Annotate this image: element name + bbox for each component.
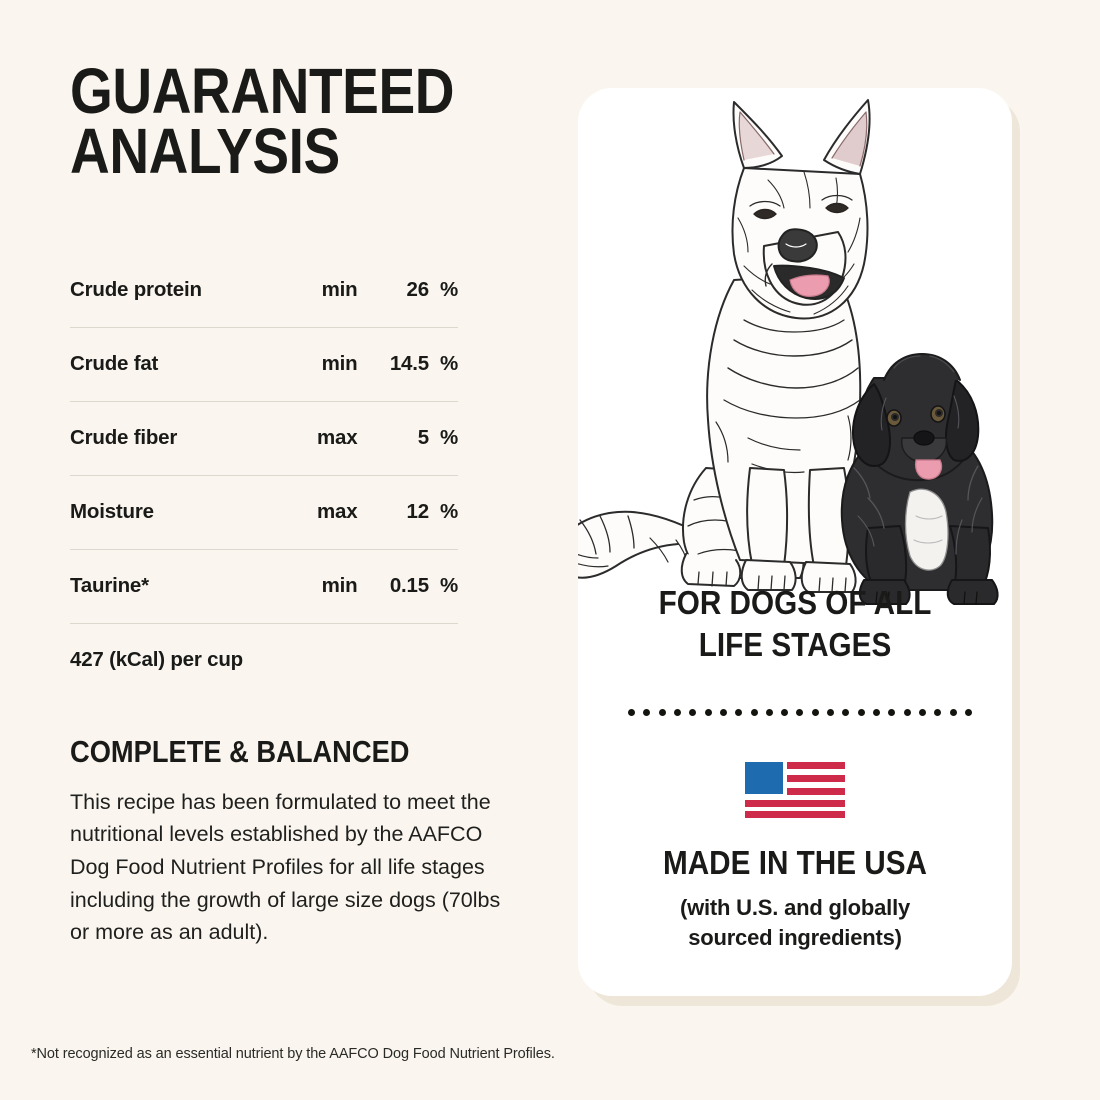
- divider-dot: [705, 709, 712, 716]
- divider-dot: [643, 709, 650, 716]
- footnote: *Not recognized as an essential nutrient…: [31, 1046, 555, 1062]
- nutrient-value: 0.15: [357, 549, 428, 623]
- divider-dot: [827, 709, 834, 716]
- page-title: GUARANTEED ANALYSIS: [70, 62, 466, 181]
- nutrient-qualifier: max: [286, 401, 358, 475]
- complete-balanced-heading: COMPLETE & BALANCED: [70, 734, 475, 770]
- nutrient-name: Moisture: [70, 475, 286, 549]
- divider-dot: [659, 709, 666, 716]
- divider-dot: [674, 709, 681, 716]
- life-stages-heading: FOR DOGS OF ALL LIFE STAGES: [600, 582, 991, 666]
- table-row: Crude fat min 14.5 %: [70, 327, 458, 401]
- table-row: Crude fiber max 5 %: [70, 401, 458, 475]
- divider-dot: [950, 709, 957, 716]
- divider-dot: [873, 709, 880, 716]
- nutrient-unit: %: [429, 253, 458, 327]
- table-row: Moisture max 12 %: [70, 475, 458, 549]
- guaranteed-analysis-table: Crude protein min 26 % Crude fat min 14.…: [70, 253, 458, 624]
- divider-dot: [751, 709, 758, 716]
- divider-dot: [781, 709, 788, 716]
- dotted-divider: [628, 708, 972, 716]
- nutrient-unit: %: [429, 327, 458, 401]
- divider-dot: [766, 709, 773, 716]
- made-in-usa-heading: MADE IN THE USA: [600, 844, 991, 882]
- complete-balanced-body: This recipe has been formulated to meet …: [70, 786, 502, 949]
- nutrient-name: Crude protein: [70, 253, 286, 327]
- divider-dot: [735, 709, 742, 716]
- nutrient-qualifier: min: [286, 253, 358, 327]
- nutrient-unit: %: [429, 549, 458, 623]
- divider-dot: [796, 709, 803, 716]
- divider-dot: [919, 709, 926, 716]
- divider-dot: [628, 709, 635, 716]
- nutrient-name: Taurine*: [70, 549, 286, 623]
- calorie-content: 427 (kCal) per cup: [70, 648, 530, 672]
- divider-dot: [965, 709, 972, 716]
- nutrient-value: 5: [357, 401, 428, 475]
- divider-dot: [934, 709, 941, 716]
- nutrient-name: Crude fiber: [70, 401, 286, 475]
- divider-dot: [888, 709, 895, 716]
- nutrient-qualifier: max: [286, 475, 358, 549]
- nutrient-value: 12: [357, 475, 428, 549]
- nutrient-value: 14.5: [357, 327, 428, 401]
- divider-dot: [689, 709, 696, 716]
- divider-dot: [812, 709, 819, 716]
- left-column: GUARANTEED ANALYSIS Crude protein min 26…: [70, 62, 530, 949]
- nutrient-value: 26: [357, 253, 428, 327]
- made-in-usa-subtext: (with U.S. and globally sourced ingredie…: [578, 893, 1012, 954]
- nutrient-unit: %: [429, 475, 458, 549]
- two-dogs-illustration: [578, 88, 1012, 648]
- nutrient-qualifier: min: [286, 549, 358, 623]
- table-body: Crude protein min 26 % Crude fat min 14.…: [70, 253, 458, 623]
- divider-dot: [720, 709, 727, 716]
- usa-flag-icon: [743, 760, 847, 818]
- divider-dot: [858, 709, 865, 716]
- table-row: Crude protein min 26 %: [70, 253, 458, 327]
- divider-dot: [842, 709, 849, 716]
- life-stages-card: FOR DOGS OF ALL LIFE STAGES MADE IN THE …: [578, 88, 1012, 996]
- divider-dot: [904, 709, 911, 716]
- nutrient-name: Crude fat: [70, 327, 286, 401]
- nutrient-unit: %: [429, 401, 458, 475]
- table-row: Taurine* min 0.15 %: [70, 549, 458, 623]
- nutrient-qualifier: min: [286, 327, 358, 401]
- nutrition-panel: GUARANTEED ANALYSIS Crude protein min 26…: [0, 0, 1100, 1100]
